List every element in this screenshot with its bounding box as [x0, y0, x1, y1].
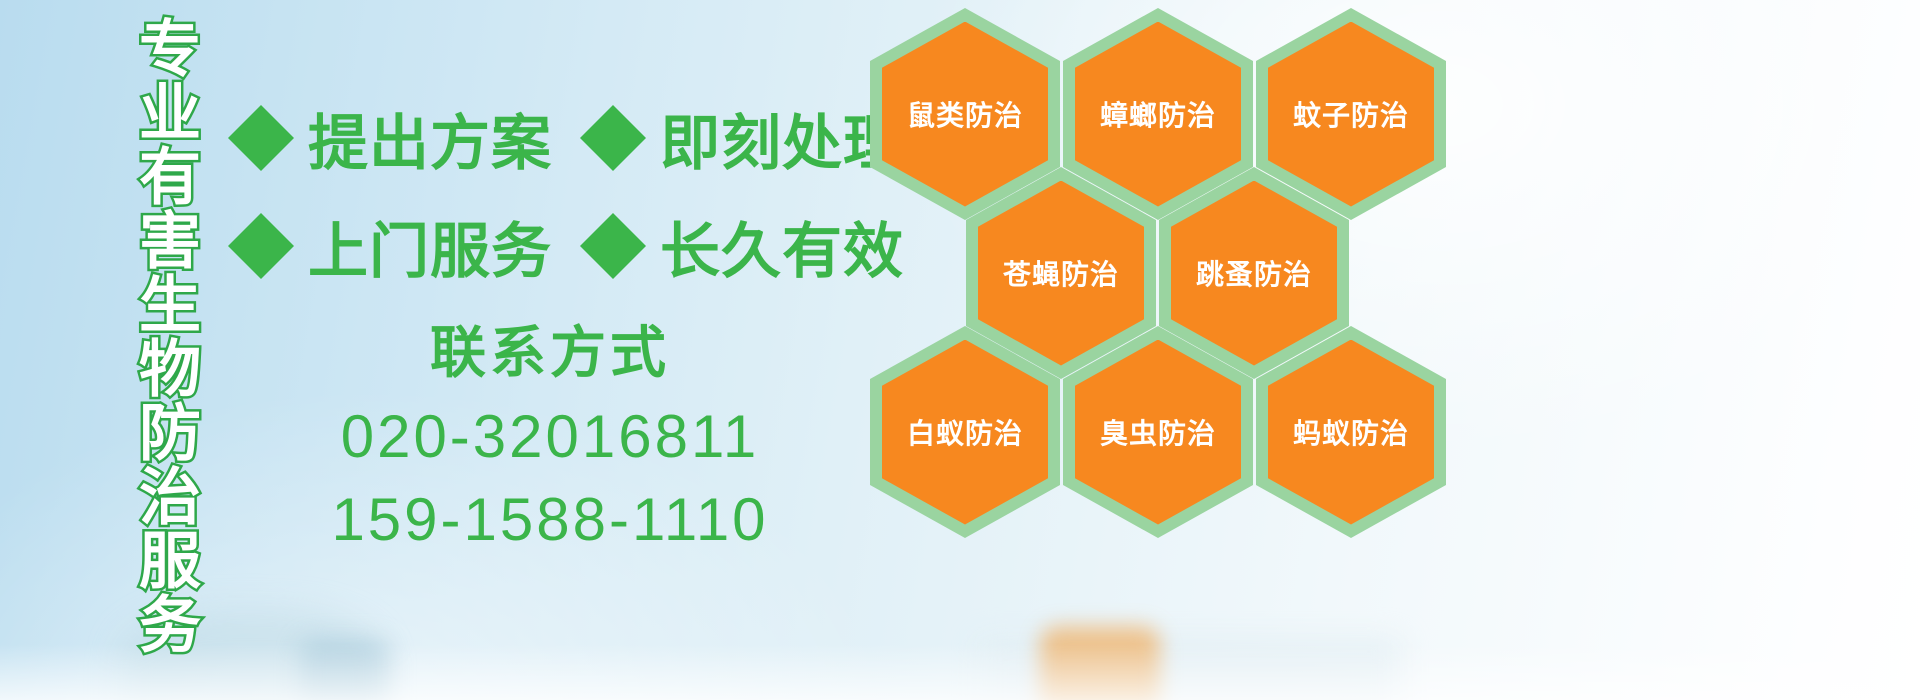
hexagon-inner: 蚊子防治	[1268, 22, 1434, 207]
hexagon-inner: 蚂蚁防治	[1268, 340, 1434, 525]
feature-label: 提出方案	[308, 95, 552, 182]
hexagon-inner: 臭虫防治	[1075, 340, 1241, 525]
background-bottom-sheen	[0, 644, 1920, 700]
diamond-bullet-icon	[228, 180, 294, 246]
service-label: 臭虫防治	[1100, 412, 1216, 452]
service-hexagon-grid: 鼠类防治 蟑螂防治 蚊子防治 苍蝇防治 跳蚤防治 白蚁防治	[862, 0, 1462, 560]
feature-label: 上门服务	[308, 203, 552, 290]
vertical-headline: 专业有害生物防治服务	[104, 16, 194, 576]
hexagon-inner: 鼠类防治	[882, 22, 1048, 207]
feature-row: 提出方案 即刻处理	[228, 84, 868, 192]
hexagon-inner: 白蚁防治	[882, 340, 1048, 525]
feature-item-propose-plan: 提出方案	[228, 95, 552, 182]
service-label: 蟑螂防治	[1100, 94, 1216, 134]
contact-phone-mobile[interactable]: 159-1588-1110	[300, 479, 800, 560]
feature-item-long-lasting: 长久有效	[580, 203, 904, 290]
service-label: 跳蚤防治	[1196, 253, 1312, 293]
hexagon-inner: 跳蚤防治	[1171, 181, 1337, 366]
hexagon-inner: 苍蝇防治	[978, 181, 1144, 366]
contact-block: 联系方式 020-32016811 159-1588-1110	[300, 318, 800, 560]
feature-row: 上门服务 长久有效	[228, 192, 868, 300]
service-label: 苍蝇防治	[1003, 253, 1119, 293]
feature-list: 提出方案 即刻处理 上门服务 长久有效	[228, 84, 868, 300]
feature-item-immediate-handling: 即刻处理	[580, 95, 904, 182]
service-label: 白蚁防治	[907, 412, 1023, 452]
diamond-bullet-icon	[580, 72, 646, 138]
diamond-bullet-icon	[228, 72, 294, 138]
pest-control-banner: 专业有害生物防治服务 提出方案 即刻处理 上门服务 长久有效 联系方式	[0, 0, 1920, 700]
service-label: 蚂蚁防治	[1293, 412, 1409, 452]
contact-phone-landline[interactable]: 020-32016811	[300, 396, 800, 477]
contact-heading: 联系方式	[300, 318, 800, 388]
hexagon-inner: 蟑螂防治	[1075, 22, 1241, 207]
diamond-bullet-icon	[580, 180, 646, 246]
service-label: 蚊子防治	[1293, 94, 1409, 134]
service-label: 鼠类防治	[907, 94, 1023, 134]
feature-item-onsite-service: 上门服务	[228, 203, 552, 290]
